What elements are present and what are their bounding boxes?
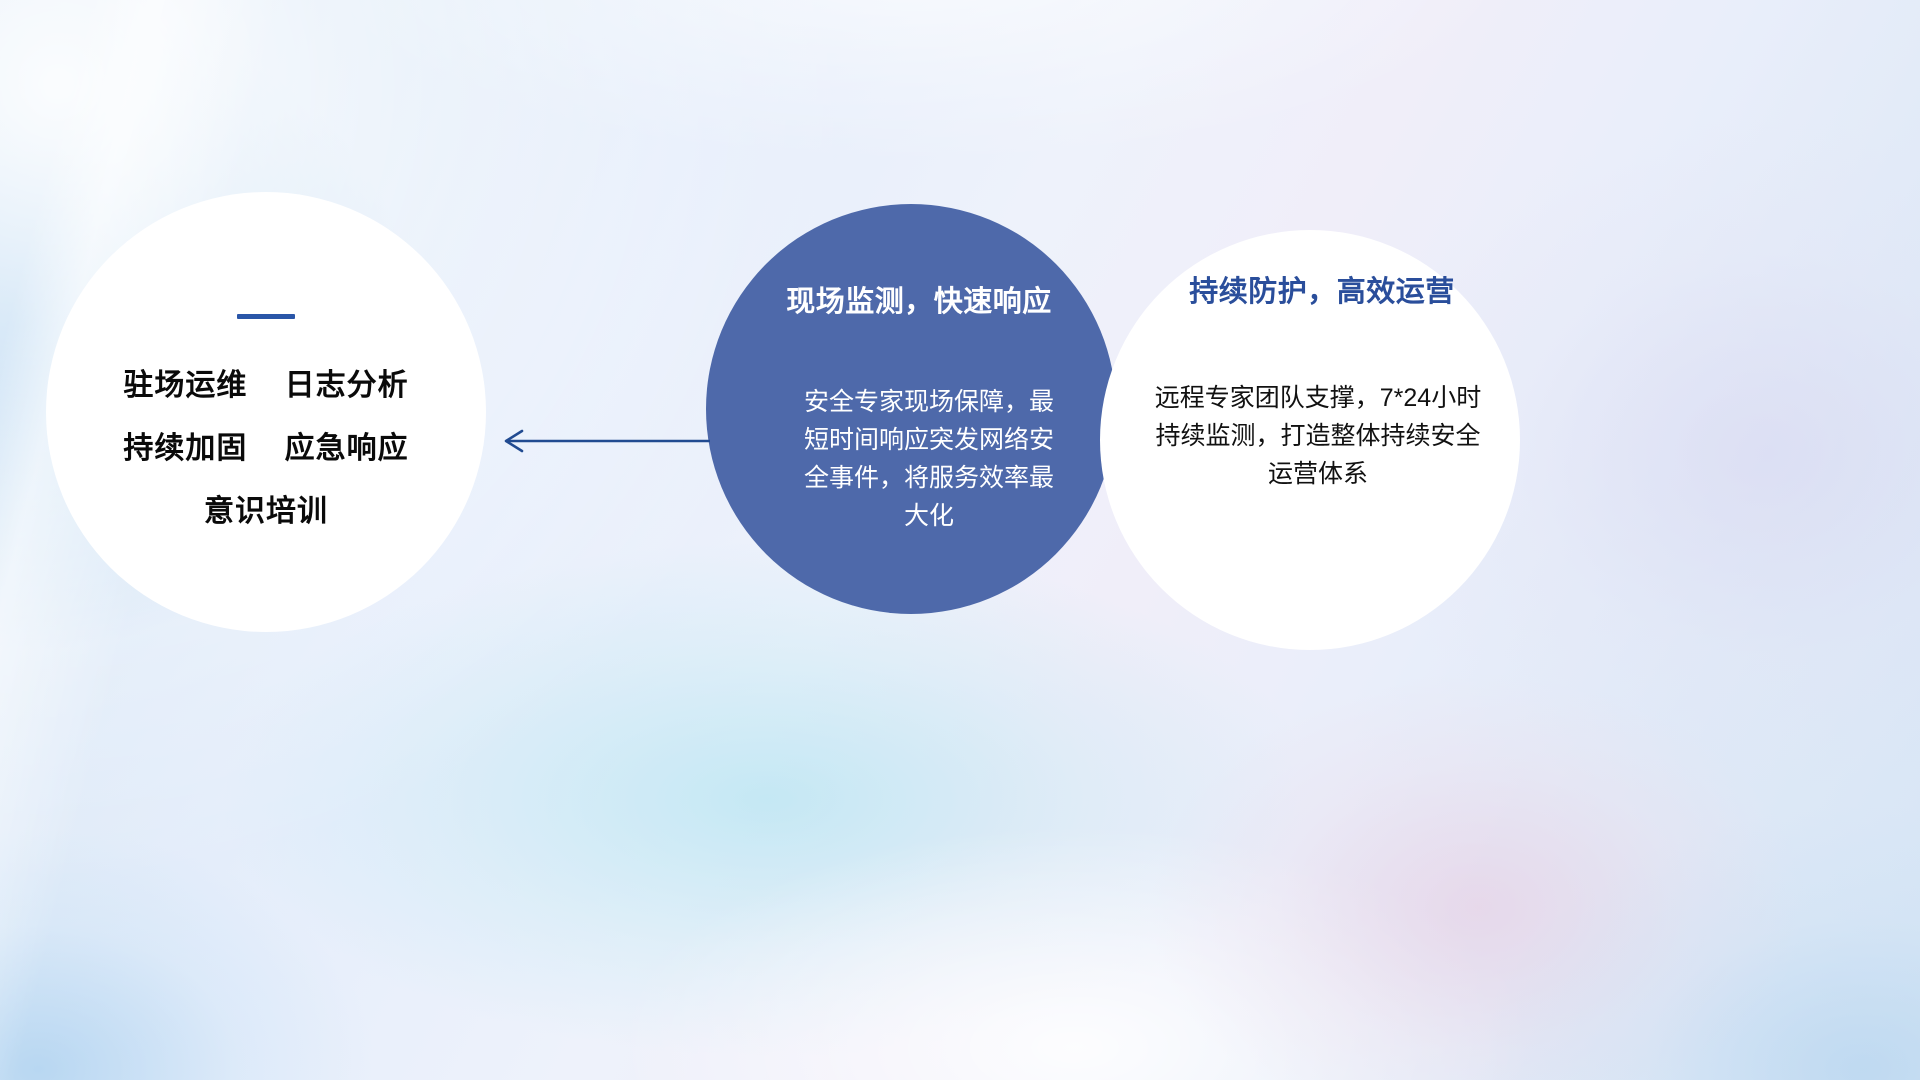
onsite-monitoring-circle[interactable]: 现场监测，快速响应 安全专家现场保障，最短时间响应突发网络安全事件，将服务效率最… <box>706 204 1116 614</box>
continuous-protection-body: 远程专家团队支撑，7*24小时持续监测，打造整体持续安全运营体系 <box>1153 379 1483 493</box>
continuous-protection-title: 持续防护，高效运营 <box>1189 278 1455 307</box>
flow-arrow-icon <box>492 414 712 468</box>
continuous-protection-content: 持续防护，高效运营 远程专家团队支撑，7*24小时持续监测，打造整体持续安全运营… <box>1100 230 1520 493</box>
capabilities-content: 驻场运维 日志分析 持续加固 应急响应 意识培训 <box>46 192 486 527</box>
capability-line-3: 意识培训 <box>204 497 328 527</box>
capabilities-circle[interactable]: 驻场运维 日志分析 持续加固 应急响应 意识培训 <box>46 192 486 632</box>
title-divider-rule <box>237 314 295 319</box>
continuous-protection-circle[interactable]: 持续防护，高效运营 远程专家团队支撑，7*24小时持续监测，打造整体持续安全运营… <box>1100 230 1520 650</box>
capability-line-2: 持续加固 应急响应 <box>123 434 408 464</box>
slide-canvas: 驻场运维 日志分析 持续加固 应急响应 意识培训 现场监测，快速响应 安全专家现… <box>0 0 1920 1080</box>
onsite-monitoring-body: 安全专家现场保障，最短时间响应突发网络安全事件，将服务效率最大化 <box>795 383 1063 535</box>
onsite-monitoring-content: 现场监测，快速响应 安全专家现场保障，最短时间响应突发网络安全事件，将服务效率最… <box>706 204 1116 535</box>
onsite-monitoring-title: 现场监测，快速响应 <box>786 288 1052 317</box>
capability-line-1: 驻场运维 日志分析 <box>123 371 408 401</box>
